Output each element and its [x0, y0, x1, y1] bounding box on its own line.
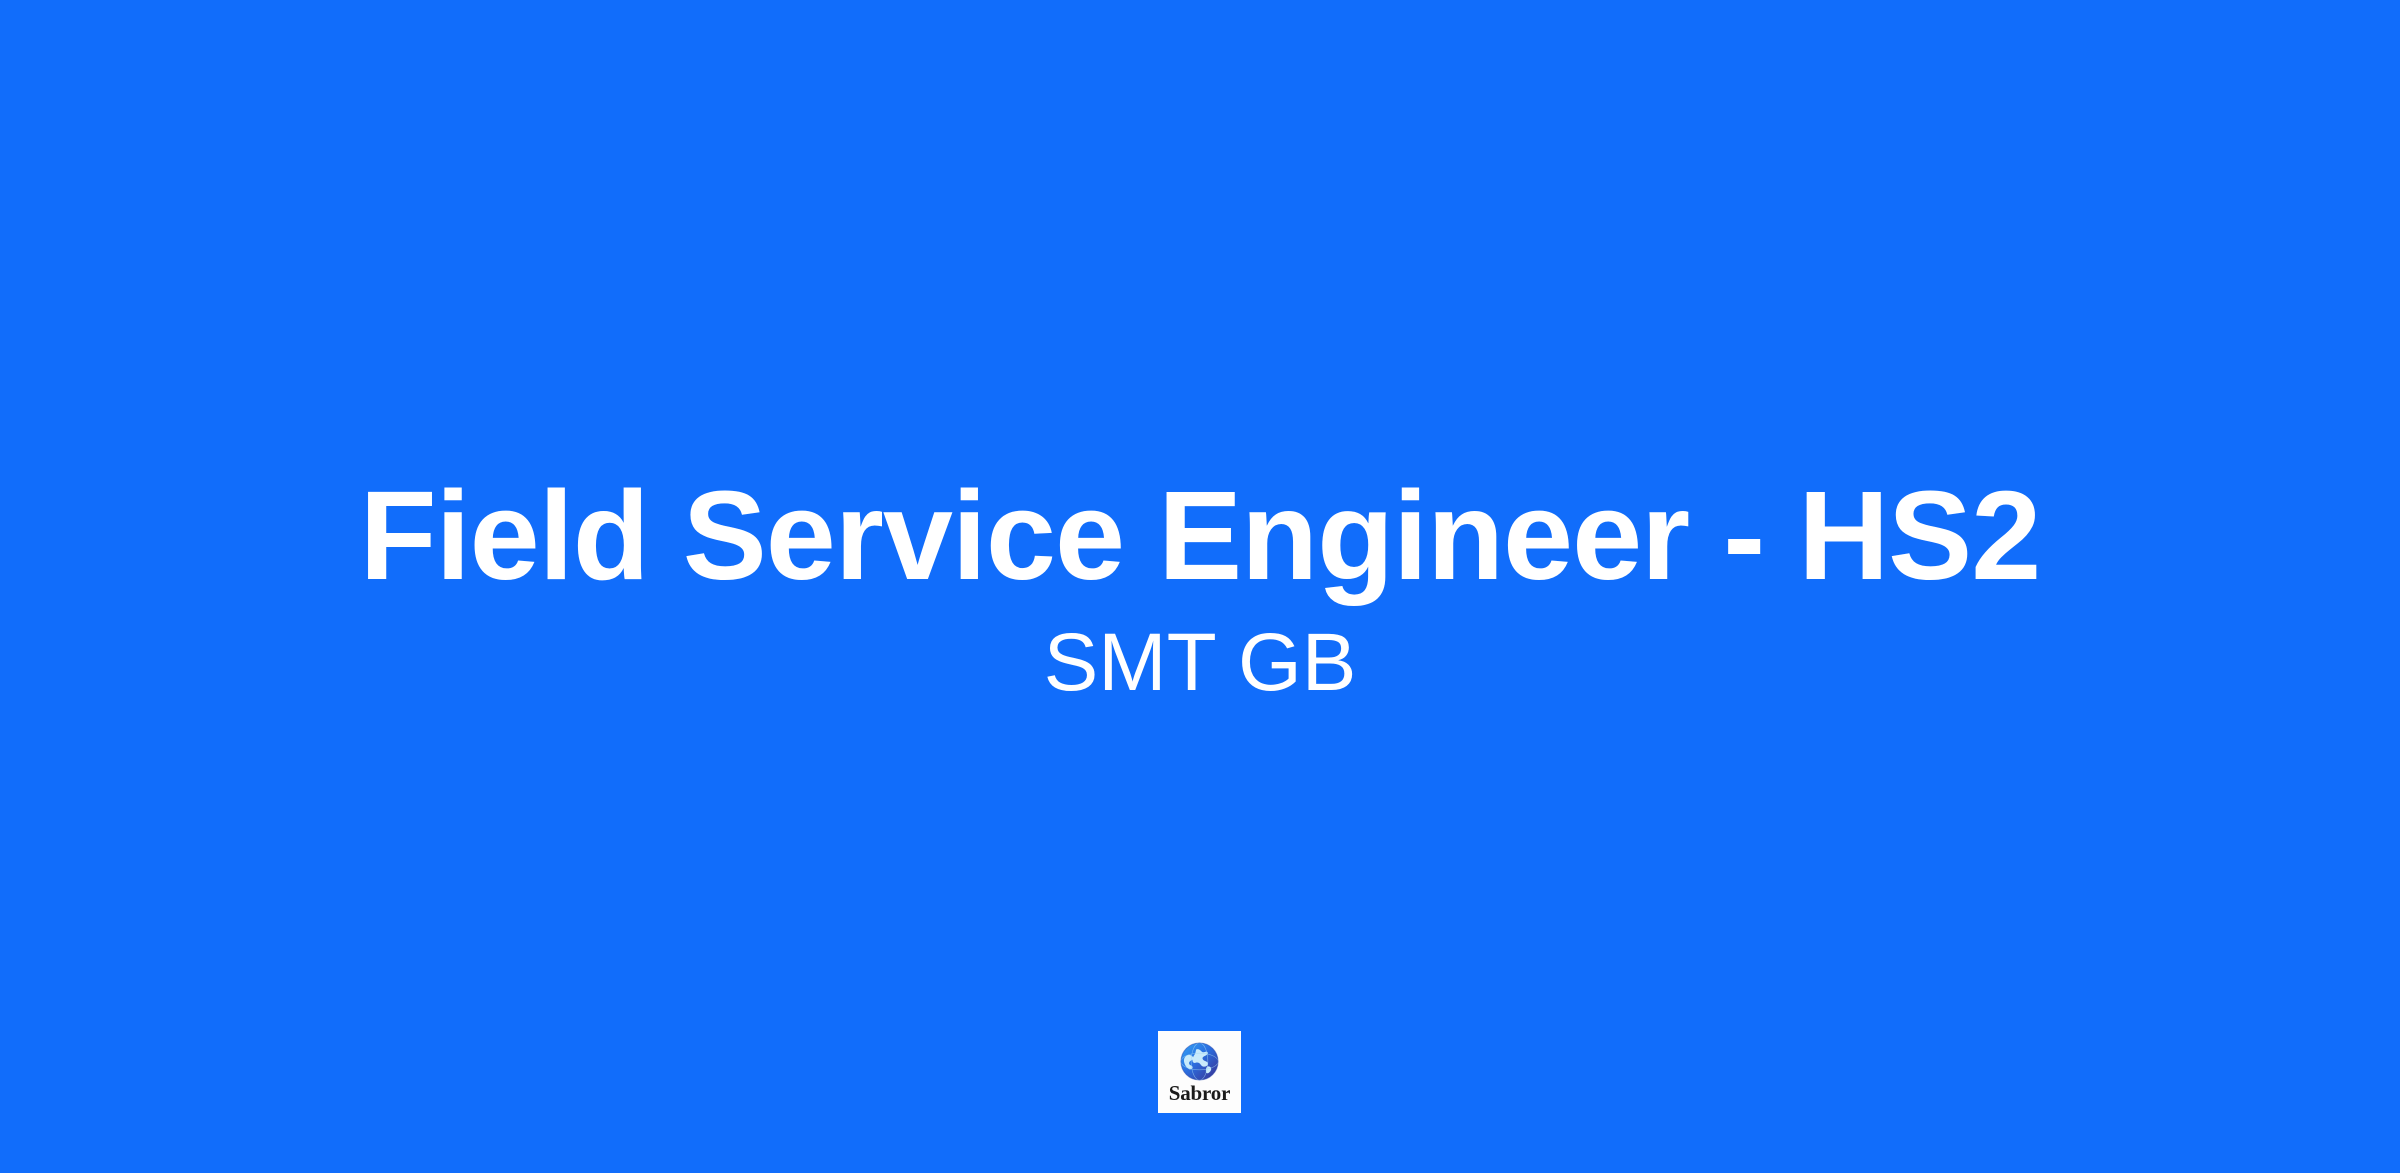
brand-wordmark: Sabror — [1169, 1083, 1230, 1104]
company-name: SMT GB — [1044, 615, 1357, 710]
globe-icon — [1179, 1041, 1220, 1082]
page-title: Field Service Engineer - HS2 — [360, 463, 2041, 609]
headline-block: Field Service Engineer - HS2 SMT GB — [0, 0, 2400, 1173]
job-posting-slide: Field Service Engineer - HS2 SMT GB — [0, 0, 2400, 1173]
brand-logo: Sabror — [1158, 1031, 1241, 1113]
